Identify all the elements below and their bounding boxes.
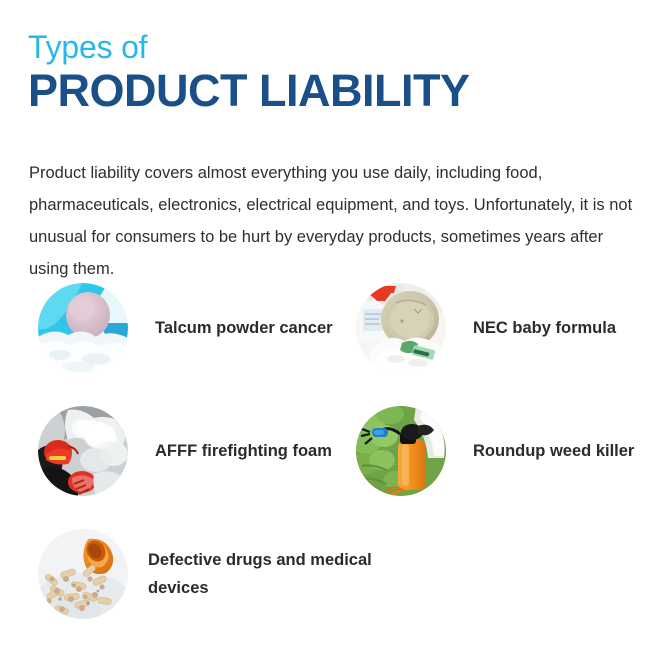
page-eyebrow: Types of <box>28 30 648 64</box>
list-item-afff-firefighting-foam[interactable]: AFFF firefighting foam <box>38 406 332 496</box>
list-item-label: Defective drugs and medical devices <box>148 546 378 602</box>
list-item-talcum-powder-cancer[interactable]: Talcum powder cancer <box>38 283 333 373</box>
list-item-label: AFFF firefighting foam <box>155 437 332 465</box>
firefighting-foam-photo <box>38 406 128 496</box>
page-header: Types of PRODUCT LIABILITY <box>28 30 648 116</box>
intro-paragraph: Product liability covers almost everythi… <box>29 157 647 285</box>
item-row: Defective drugs and medical devices <box>0 529 671 652</box>
list-item-label: NEC baby formula <box>473 314 616 342</box>
list-item-defective-drugs-and-medical-devices[interactable]: Defective drugs and medical devices <box>38 529 378 619</box>
infographic-page: Types of PRODUCT LIABILITY Product liabi… <box>0 0 671 653</box>
item-row: AFFF firefighting foam <box>0 406 671 529</box>
talcum-powder-photo <box>38 283 128 373</box>
item-row: Talcum powder cancer <box>0 283 671 406</box>
weed-sprayer-photo <box>356 406 446 496</box>
page-title: PRODUCT LIABILITY <box>28 66 648 116</box>
list-item-label: Roundup weed killer <box>473 437 634 465</box>
baby-formula-photo <box>356 283 446 373</box>
list-item-nec-baby-formula[interactable]: NEC baby formula <box>356 283 616 373</box>
liability-types-list: Talcum powder cancer <box>0 283 671 652</box>
spilled-pills-photo <box>38 529 128 619</box>
list-item-roundup-weed-killer[interactable]: Roundup weed killer <box>356 406 634 496</box>
list-item-label: Talcum powder cancer <box>155 314 333 342</box>
